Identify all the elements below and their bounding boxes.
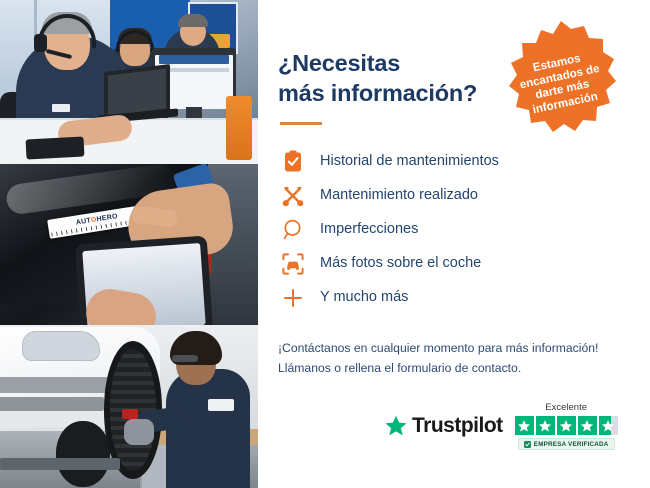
name-badge [52, 104, 70, 112]
contact-text: ¡Contáctanos en cualquier momento para m… [278, 338, 628, 378]
star-2 [536, 416, 555, 435]
promo-card: AUTOHERO [0, 0, 650, 488]
content-panel: ¿Necesitas más información? Historial de… [258, 0, 650, 488]
page-title: ¿Necesitas más información? [278, 48, 508, 108]
feature-item-maintenance-history: Historial de mantenimientos [278, 145, 628, 178]
verified-label: EMPRESA VERIFICADA [534, 441, 609, 448]
feature-item-imperfections: Imperfecciones [278, 213, 628, 246]
car-grille-lower [0, 397, 104, 411]
contact-line-2: Llámanos o rellena el formulario de cont… [278, 361, 521, 375]
car-lift-arm [0, 458, 120, 470]
headset-earcup [34, 34, 47, 52]
contact-line-1: ¡Contáctanos en cualquier momento para m… [278, 341, 598, 355]
star-1 [515, 416, 534, 435]
tools-cross-icon [278, 181, 308, 211]
headline-line-1: ¿Necesitas [278, 50, 400, 76]
verified-badge: EMPRESA VERIFICADA [518, 438, 615, 450]
feature-item-more-photos: Más fotos sobre el coche [278, 247, 628, 280]
headset-icon [489, 18, 511, 38]
magnifier-icon [278, 215, 308, 245]
uniform-logo [208, 399, 234, 411]
feature-label: Imperfecciones [320, 222, 418, 237]
trustpilot-star-icon [384, 414, 408, 438]
safety-glasses-icon [172, 355, 198, 362]
star-5-partial [599, 416, 618, 435]
star-3 [557, 416, 576, 435]
plus-icon [278, 283, 308, 313]
rear-tire [56, 421, 110, 487]
trustpilot-wordmark: Trustpilot [412, 414, 503, 438]
car-frame-icon [278, 249, 308, 279]
photo-tire-check [0, 325, 258, 488]
background-person-hair [178, 14, 208, 27]
headline-line-2: más información? [278, 80, 477, 106]
star-rating [515, 416, 618, 435]
rating-label: Excelente [545, 402, 587, 413]
feature-label: Mantenimiento realizado [320, 188, 478, 203]
feature-item-maintenance-done: Mantenimiento realizado [278, 179, 628, 212]
feature-label: Más fotos sobre el coche [320, 256, 481, 271]
feature-list: Historial de mantenimientos M [278, 145, 628, 314]
work-glove [124, 419, 154, 445]
verified-check-icon [524, 441, 531, 448]
car-headlight [22, 331, 100, 361]
feature-label: Historial de mantenimientos [320, 154, 499, 169]
tablet-on-desk [26, 136, 85, 159]
photo-call-center [0, 0, 258, 164]
promo-badge: Estamos encantados de darte más informac… [500, 18, 622, 140]
feature-item-much-more: Y mucho más [278, 281, 628, 314]
title-divider [280, 122, 322, 125]
star-4 [578, 416, 597, 435]
trustpilot-rating: Excelente [515, 402, 618, 450]
ruler-brand-text: AUTOHERO [75, 213, 118, 227]
hand-tool [122, 409, 138, 419]
feature-label: Y mucho más [320, 290, 408, 305]
photo-collage: AUTOHERO [0, 0, 258, 488]
photo-inspection: AUTOHERO [0, 164, 258, 325]
clipboard-check-icon [278, 147, 308, 177]
car-grille-upper [0, 377, 112, 393]
orange-equipment [226, 96, 252, 160]
trustpilot-logo[interactable]: Trustpilot [384, 414, 503, 438]
trustpilot-widget[interactable]: Trustpilot Excelente [384, 402, 618, 450]
